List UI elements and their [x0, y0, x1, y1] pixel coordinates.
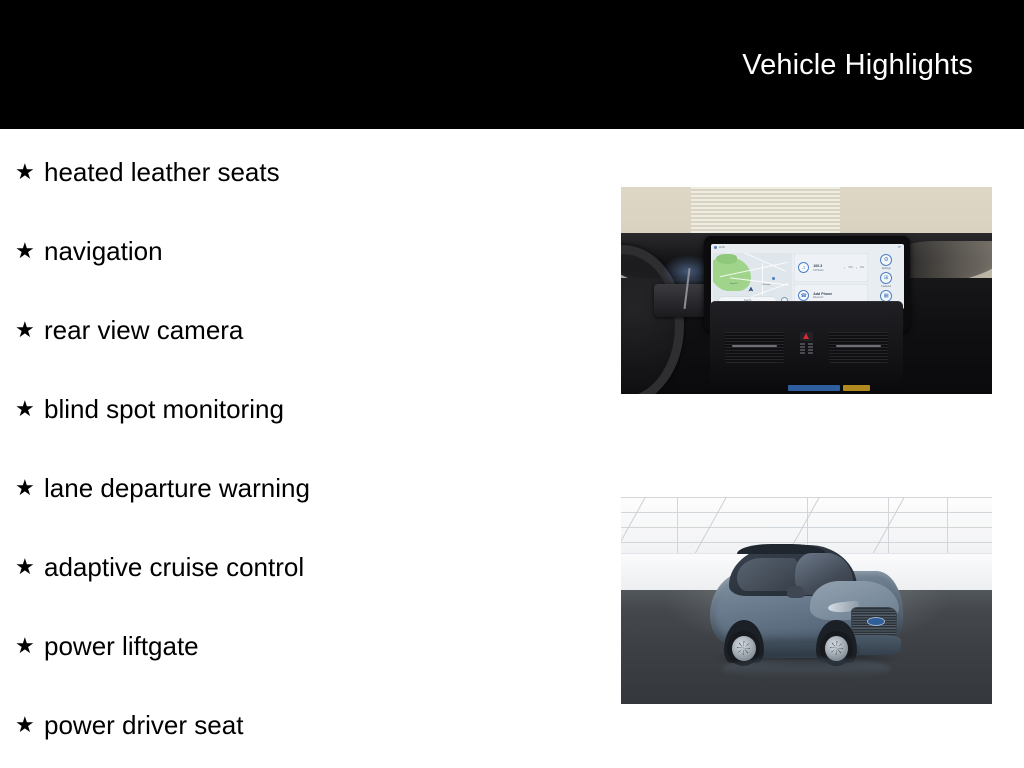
- vent-blade: [836, 345, 881, 347]
- radio-icon: ♫: [798, 262, 809, 273]
- star-bullet-icon: ★: [15, 240, 44, 262]
- feature-label: lane departure warning: [44, 475, 310, 501]
- map-park-area-secondary: [716, 254, 737, 264]
- star-bullet-icon: ★: [15, 477, 44, 499]
- climate-key-icon[interactable]: [800, 349, 805, 351]
- vehicle-interior-dashboard-photo: 12:18 70° Parkway Hwy: [621, 187, 992, 394]
- hazard-button[interactable]: [800, 332, 813, 341]
- star-bullet-icon: ★: [15, 319, 44, 341]
- list-item: ★ blind spot monitoring: [15, 392, 284, 426]
- feature-label: power liftgate: [44, 633, 199, 659]
- map-label-primary: Parkway: [762, 284, 770, 286]
- star-bullet-icon: ★: [15, 556, 44, 578]
- star-bullet-icon: ★: [15, 714, 44, 736]
- climate-key-icon[interactable]: [808, 352, 813, 354]
- phone-connection-type: Bluetooth: [813, 296, 832, 299]
- list-item: ★ power liftgate: [15, 629, 199, 663]
- status-time: 12:18: [719, 246, 725, 249]
- map-vehicle-position-icon: [748, 287, 753, 292]
- vehicle-exterior-studio-photo: [621, 497, 992, 704]
- wheel-rim: [732, 636, 756, 661]
- vent-blade: [732, 345, 777, 347]
- features-button[interactable]: ⊞ Features: [880, 272, 892, 288]
- radio-widget[interactable]: ♫ 100.3 FM Radio HD1 FAV: [794, 253, 868, 282]
- ceiling-grid-line: [621, 497, 652, 559]
- climate-key-icon[interactable]: [800, 343, 805, 345]
- widget-column: ♫ 100.3 FM Radio HD1 FAV ☎: [794, 253, 868, 307]
- page-title: Vehicle Highlights: [742, 49, 973, 82]
- list-item: ★ power driver seat: [15, 708, 243, 742]
- phone-icon: ☎: [798, 290, 809, 301]
- status-time-group: 12:18: [714, 246, 725, 249]
- cabin-scene: 12:18 70° Parkway Hwy: [621, 187, 992, 394]
- star-bullet-icon: ★: [15, 635, 44, 657]
- map-label-secondary: Hwy 53: [730, 283, 737, 285]
- map-road: [762, 263, 763, 295]
- list-item: ★ adaptive cruise control: [15, 550, 304, 584]
- screen-status-bar: 12:18 70°: [711, 244, 905, 251]
- list-item: ★ heated leather seats: [15, 155, 280, 189]
- wheel-spokes: [737, 641, 750, 655]
- feature-label: adaptive cruise control: [44, 554, 304, 580]
- radio-preset[interactable]: HD1: [844, 267, 853, 269]
- feature-label: heated leather seats: [44, 159, 280, 185]
- ceiling-grid-line: [947, 497, 948, 553]
- radio-presets: HD1 FAV: [844, 267, 864, 269]
- climate-control-keys: [800, 343, 813, 354]
- hazard-triangle-icon: [803, 333, 809, 339]
- studio-scene: [621, 497, 992, 704]
- vehicle-floor-reflection: [722, 658, 892, 679]
- ceiling-grid-line: [677, 497, 678, 553]
- wheel-rim: [825, 636, 849, 661]
- settings-button[interactable]: ⚙ Settings: [880, 254, 892, 270]
- status-indicator-icon: [714, 246, 717, 249]
- star-bullet-icon: ★: [15, 161, 44, 183]
- feature-label: blind spot monitoring: [44, 396, 284, 422]
- climate-key-icon[interactable]: [800, 352, 805, 354]
- feature-label: rear view camera: [44, 317, 243, 343]
- console-amber-indicator: [843, 385, 869, 391]
- air-vent-left: [725, 332, 784, 364]
- feature-label: power driver seat: [44, 712, 243, 738]
- suv-vehicle: [710, 543, 903, 671]
- header-bar: Vehicle Highlights: [0, 0, 1024, 129]
- vehicle-side-mirror: [787, 586, 804, 598]
- console-indicator-strip: [788, 385, 870, 391]
- infotainment-screen[interactable]: 12:18 70° Parkway Hwy: [711, 244, 905, 309]
- wheel-spokes: [830, 641, 843, 655]
- air-vent-right: [829, 332, 888, 364]
- console-blue-indicator: [788, 385, 840, 391]
- list-item: ★ navigation: [15, 234, 163, 268]
- status-temperature: 70°: [898, 246, 902, 249]
- list-item: ★ rear view camera: [15, 313, 243, 347]
- map-card[interactable]: Parkway Hwy 53 Search: [713, 253, 793, 307]
- vehicle-brand-emblem: [867, 617, 884, 626]
- grid-icon: ⊞: [880, 272, 892, 284]
- map-pin-icon: [772, 277, 775, 280]
- screen-button-rail: ⚙ Settings ⊞ Features ▦ Apps: [870, 253, 902, 307]
- features-label: Features: [881, 285, 891, 288]
- climate-key-icon[interactable]: [808, 346, 813, 348]
- settings-label: Settings: [882, 267, 891, 270]
- climate-key-icon[interactable]: [800, 346, 805, 348]
- climate-key-icon[interactable]: [808, 343, 813, 345]
- list-item: ★ lane departure warning: [15, 471, 310, 505]
- feature-label: navigation: [44, 238, 163, 264]
- hazard-control-stack: [792, 332, 821, 354]
- gear-icon: ⚙: [880, 254, 892, 266]
- radio-preset[interactable]: FAV: [856, 267, 864, 269]
- radio-source: FM Radio: [813, 269, 823, 272]
- vehicle-feature-list: ★ heated leather seats ★ navigation ★ re…: [0, 129, 600, 768]
- star-bullet-icon: ★: [15, 398, 44, 420]
- climate-key-icon[interactable]: [808, 349, 813, 351]
- center-stack-vent-panel: [710, 301, 903, 388]
